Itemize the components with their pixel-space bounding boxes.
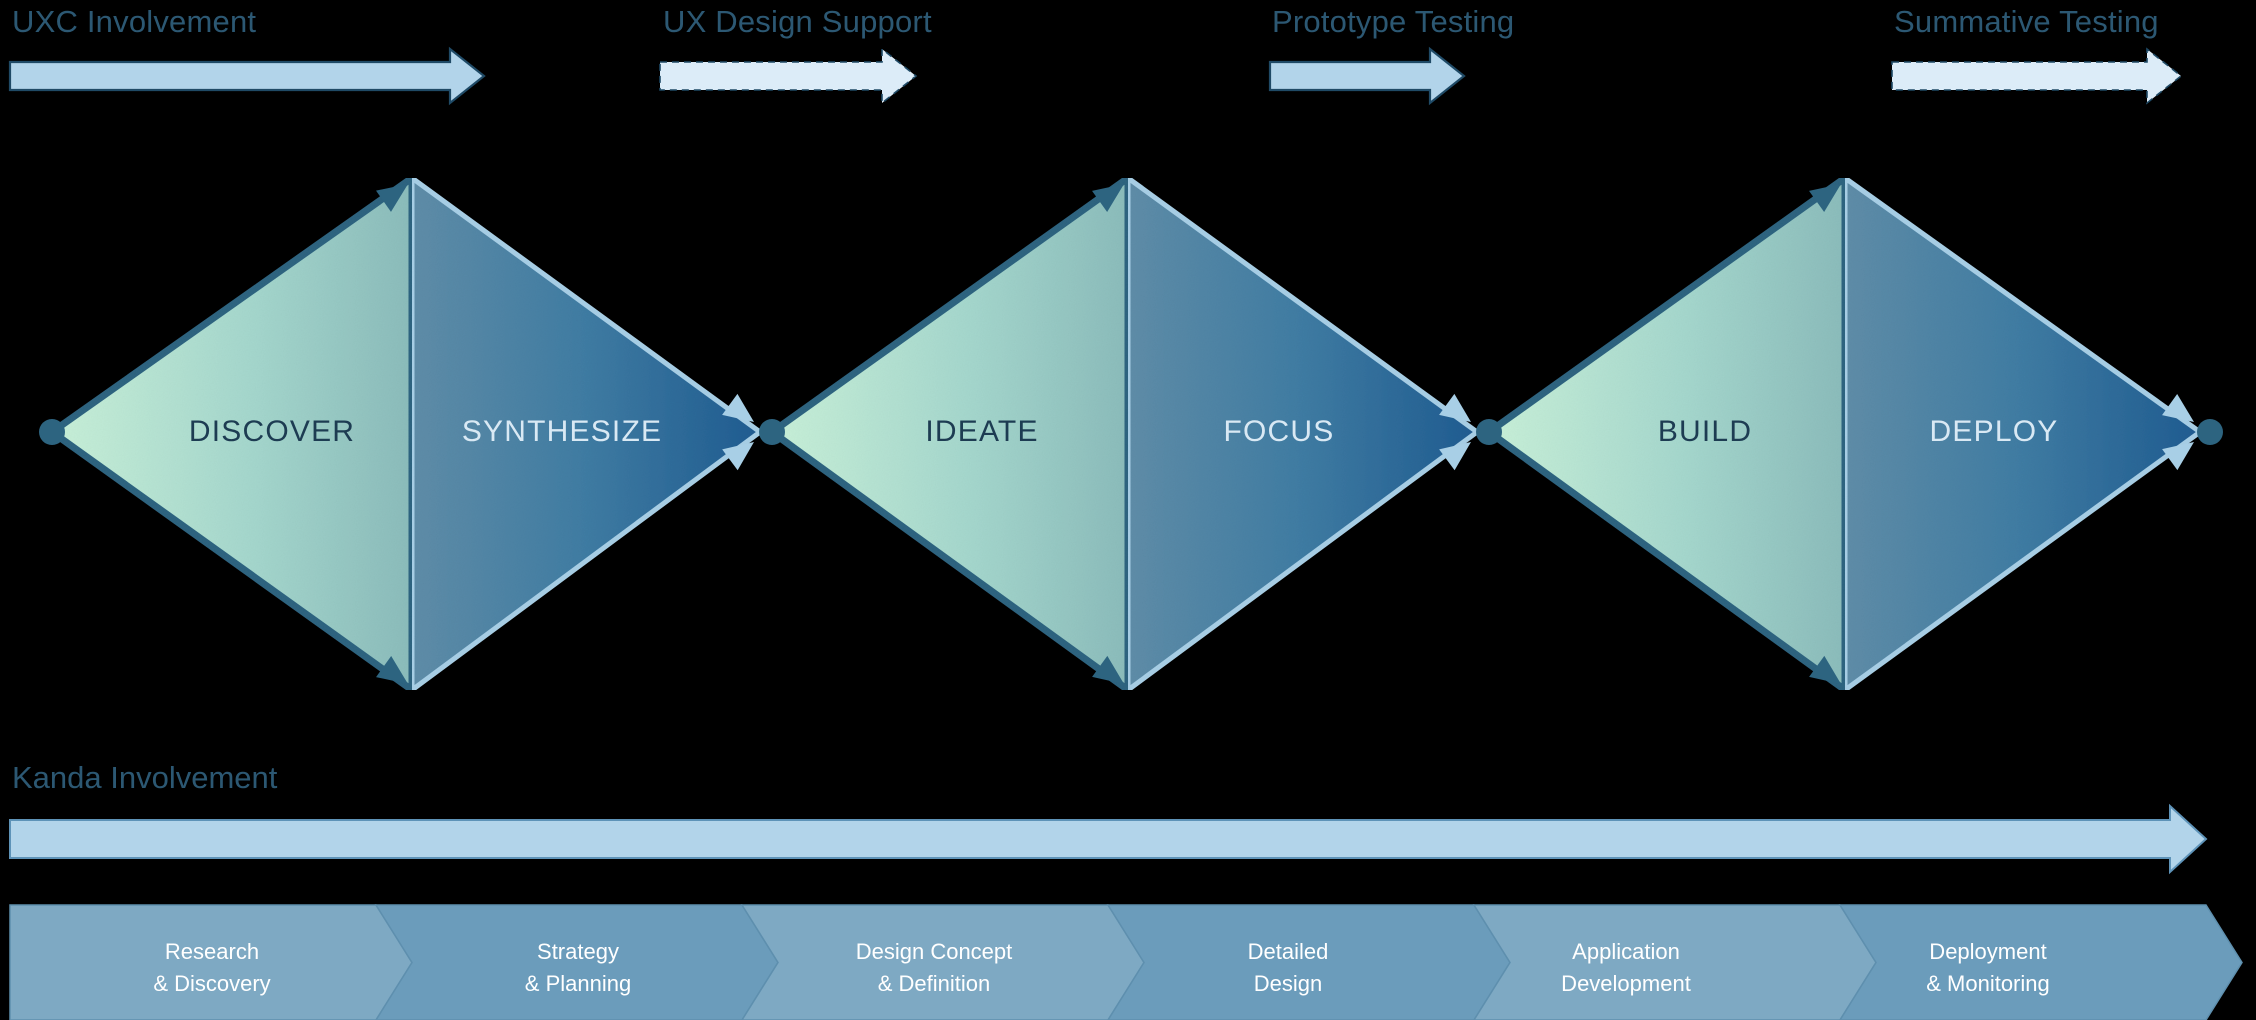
stage-label-1: Strategy & Planning: [525, 936, 631, 1000]
process-end-node-dot: [2197, 419, 2223, 445]
stage-label-5: Deployment & Monitoring: [1926, 936, 2050, 1000]
top-phase-label-0: UXC Involvement: [12, 4, 256, 40]
diagram-canvas: UXC Involvement UX Design Support Protot…: [0, 0, 2256, 1020]
top-phase-label-1: UX Design Support: [663, 4, 932, 40]
diamond-0-left-node-dot: [39, 419, 65, 445]
stage-label-3: Detailed Design: [1248, 936, 1329, 1000]
diamond-label-build: BUILD: [1658, 415, 1752, 449]
top-track-arrow-2: [1270, 49, 1464, 103]
kanda-involvement-label: Kanda Involvement: [12, 760, 277, 796]
diamond-label-synthesize: SYNTHESIZE: [462, 415, 662, 449]
stage-label-4: Application Development: [1561, 936, 1691, 1000]
phase-label-text: UXC Involvement: [12, 4, 256, 39]
top-phase-label-2: Prototype Testing: [1272, 4, 1514, 40]
diamond-label-ideate: IDEATE: [925, 415, 1038, 449]
kanda-involvement-arrow: [10, 806, 2206, 872]
phase-label-text: UX Design Support: [663, 4, 932, 39]
top-track-arrow-3: [1892, 49, 2181, 103]
diamond-label-deploy: DEPLOY: [1930, 415, 2059, 449]
top-track-arrow-0: [10, 49, 484, 103]
stage-label-2: Design Concept & Definition: [856, 936, 1013, 1000]
stage-label-0: Research & Discovery: [153, 936, 270, 1000]
diagram-shapes-layer: [0, 0, 2256, 1020]
diamond-label-focus: FOCUS: [1224, 415, 1335, 449]
top-phase-label-3: Summative Testing: [1894, 4, 2159, 40]
phase-label-text: Prototype Testing: [1272, 4, 1514, 39]
diamond-1-left-node-dot: [759, 419, 785, 445]
diamond-label-discover: DISCOVER: [189, 415, 355, 449]
phase-label-text: Summative Testing: [1894, 4, 2159, 39]
top-track-arrow-1: [660, 49, 916, 103]
diamond-2-left-node-dot: [1476, 419, 1502, 445]
